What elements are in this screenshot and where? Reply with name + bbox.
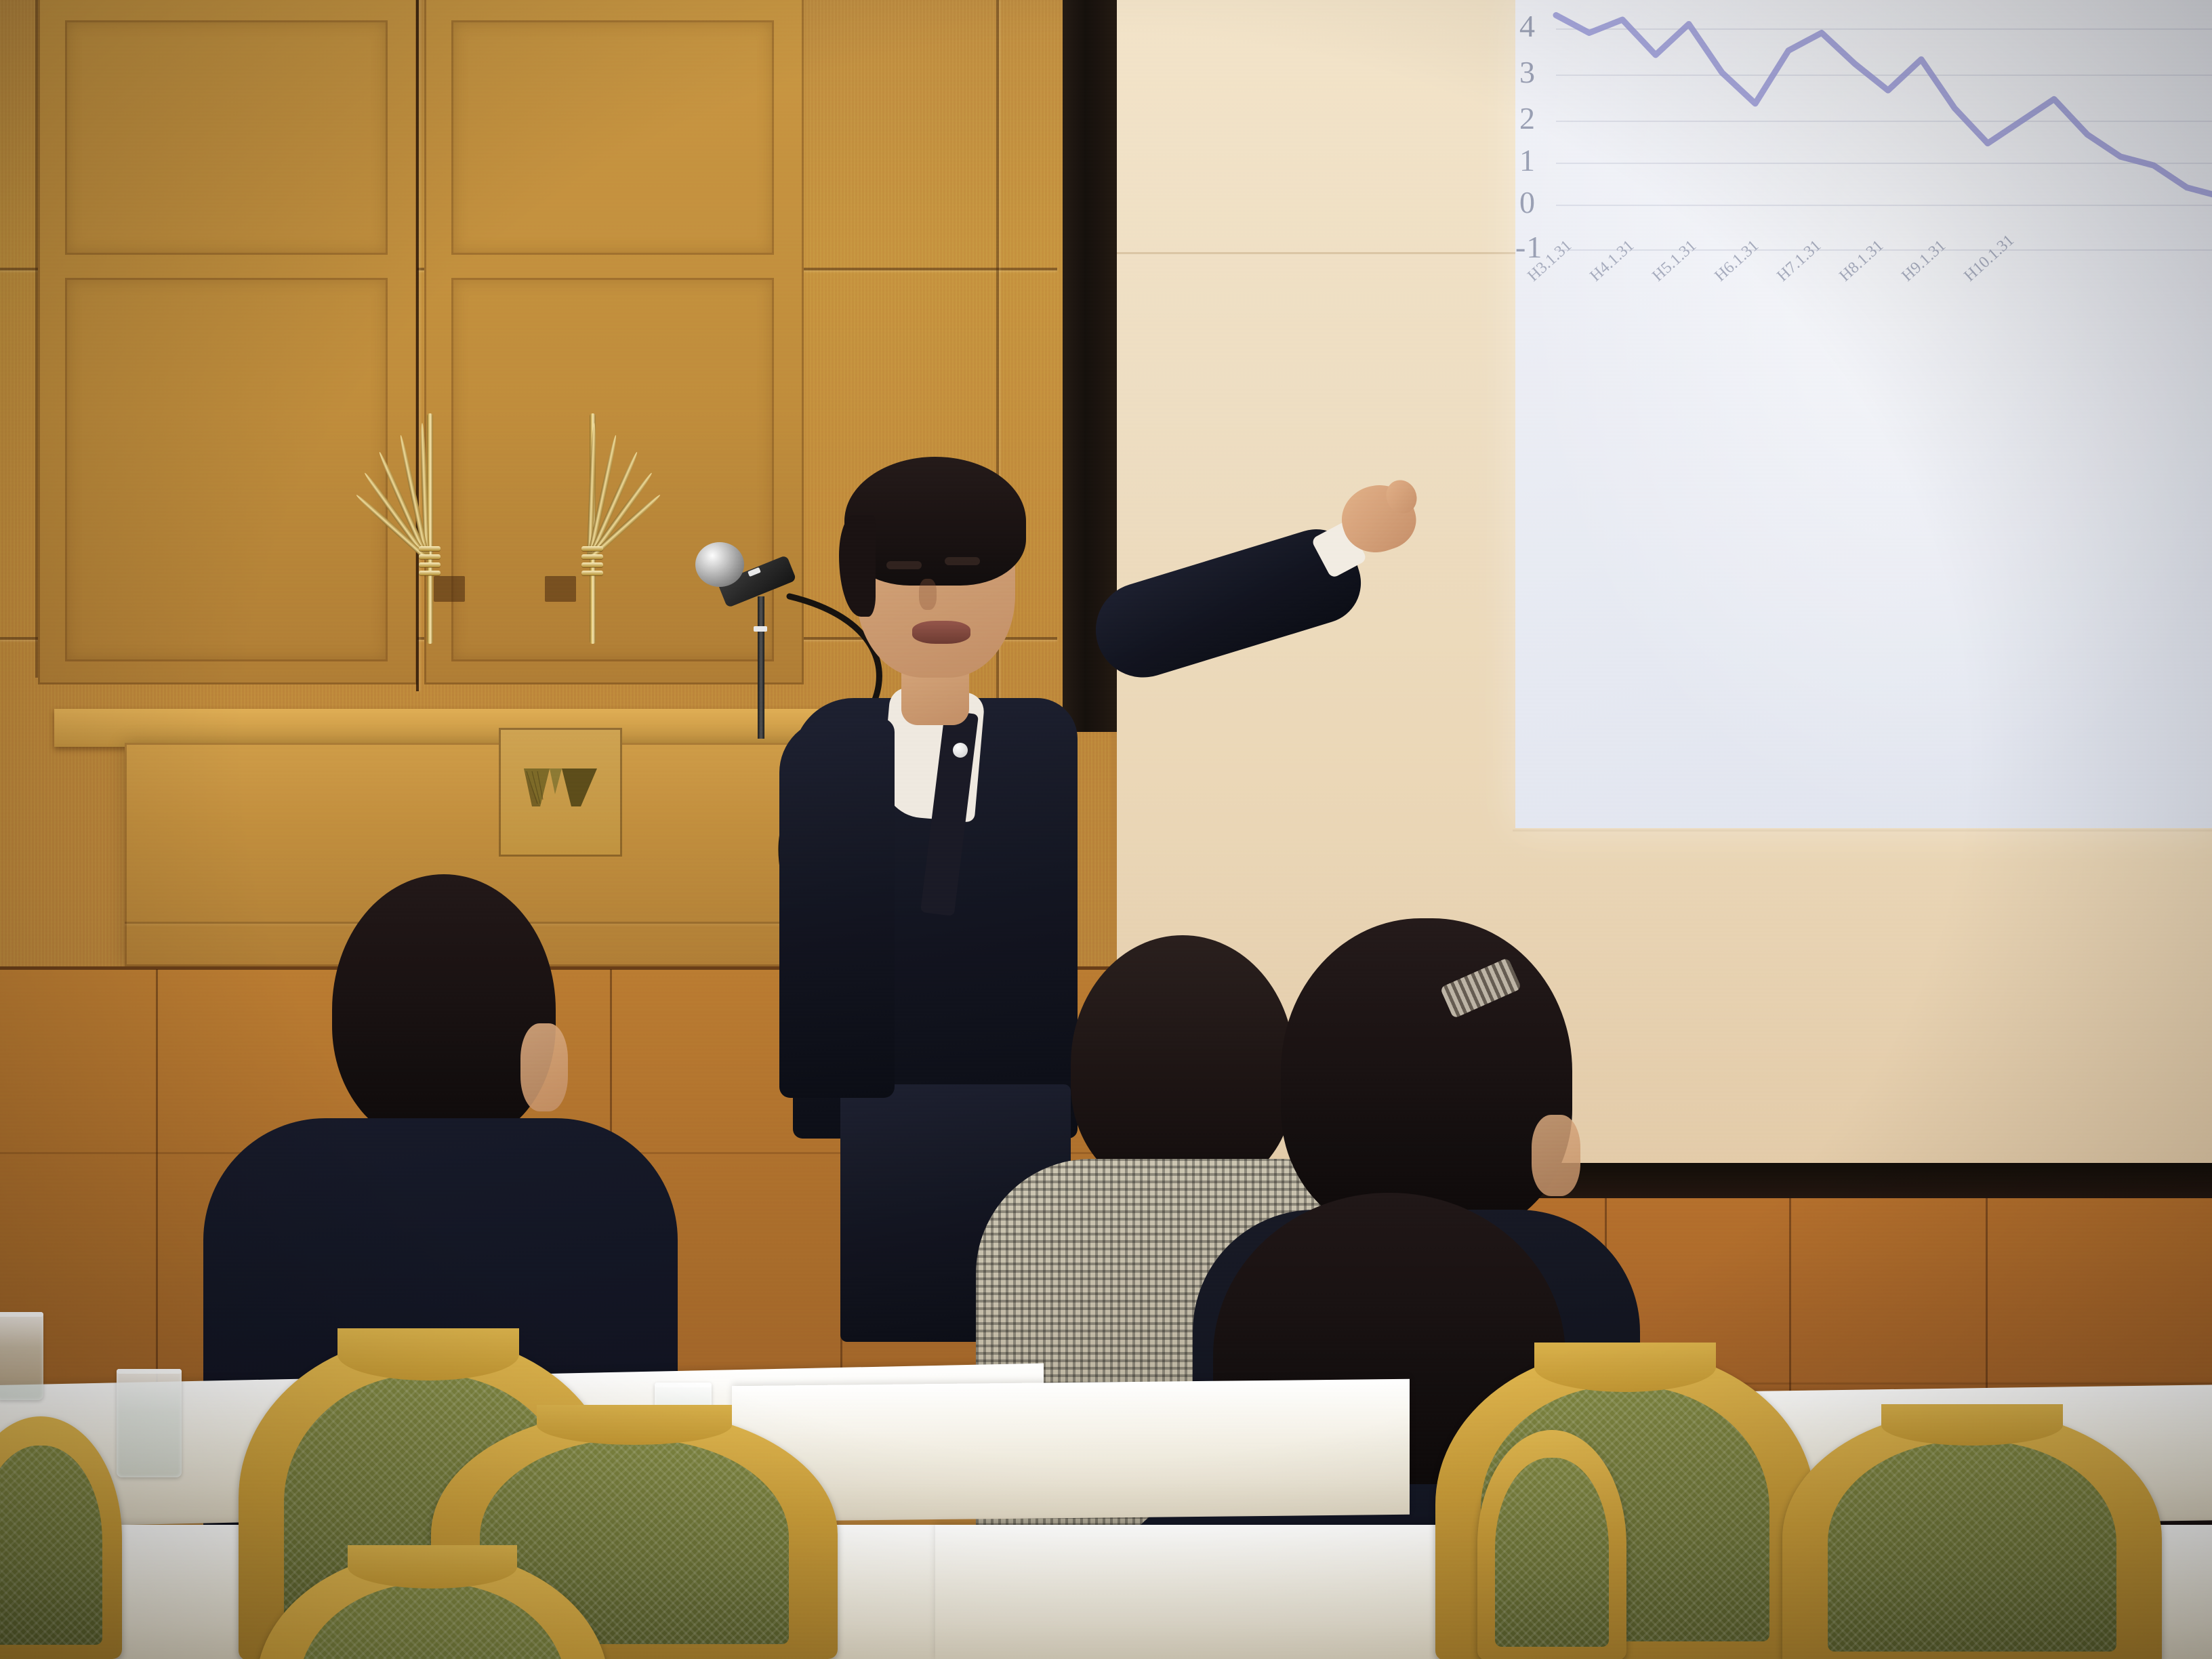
cream-wall-seam — [1117, 252, 1551, 254]
presenter-lapel-pin — [953, 743, 968, 758]
presenter-sideburn — [839, 515, 876, 617]
presenter-eye-left — [886, 561, 922, 569]
pull-plume — [557, 416, 614, 558]
chart-series-line — [1515, 0, 2212, 828]
projection-screen: 4 3 2 1 0 -1 H3.1.31 H4.1.31 H5.1.31 H6.… — [1515, 0, 2212, 828]
banquet-chair[interactable] — [0, 1416, 122, 1659]
attendee-ear-side — [520, 1023, 568, 1111]
microphone-head — [695, 542, 744, 587]
presenter-left-arm — [779, 718, 895, 1098]
attendee-ear-side — [1532, 1115, 1580, 1196]
podium-emblem-plate — [499, 728, 622, 857]
door-panel-inset — [451, 20, 774, 255]
door-panel-inset — [65, 20, 388, 255]
w-logo-icon — [520, 764, 601, 820]
cream-wall-seam — [1513, 829, 2212, 832]
door-panel-inset — [65, 278, 388, 661]
water-glass[interactable] — [117, 1369, 182, 1477]
banquet-chair[interactable] — [256, 1551, 609, 1659]
presenter-mouth — [912, 621, 970, 644]
photo-scene: 4 3 2 1 0 -1 H3.1.31 H4.1.31 H5.1.31 H6.… — [0, 0, 2212, 1659]
banquet-chair[interactable] — [1477, 1430, 1626, 1659]
attendee-hair — [332, 874, 556, 1145]
pull-plume — [394, 416, 451, 558]
presenter-nose — [919, 579, 937, 610]
water-glass[interactable] — [0, 1312, 43, 1400]
attendee-hair — [1281, 918, 1572, 1237]
banquet-chair[interactable] — [1782, 1410, 2162, 1659]
door-pull-right[interactable] — [557, 413, 618, 644]
presenter-eye-right — [945, 557, 980, 565]
door-pull-left[interactable] — [394, 413, 455, 644]
